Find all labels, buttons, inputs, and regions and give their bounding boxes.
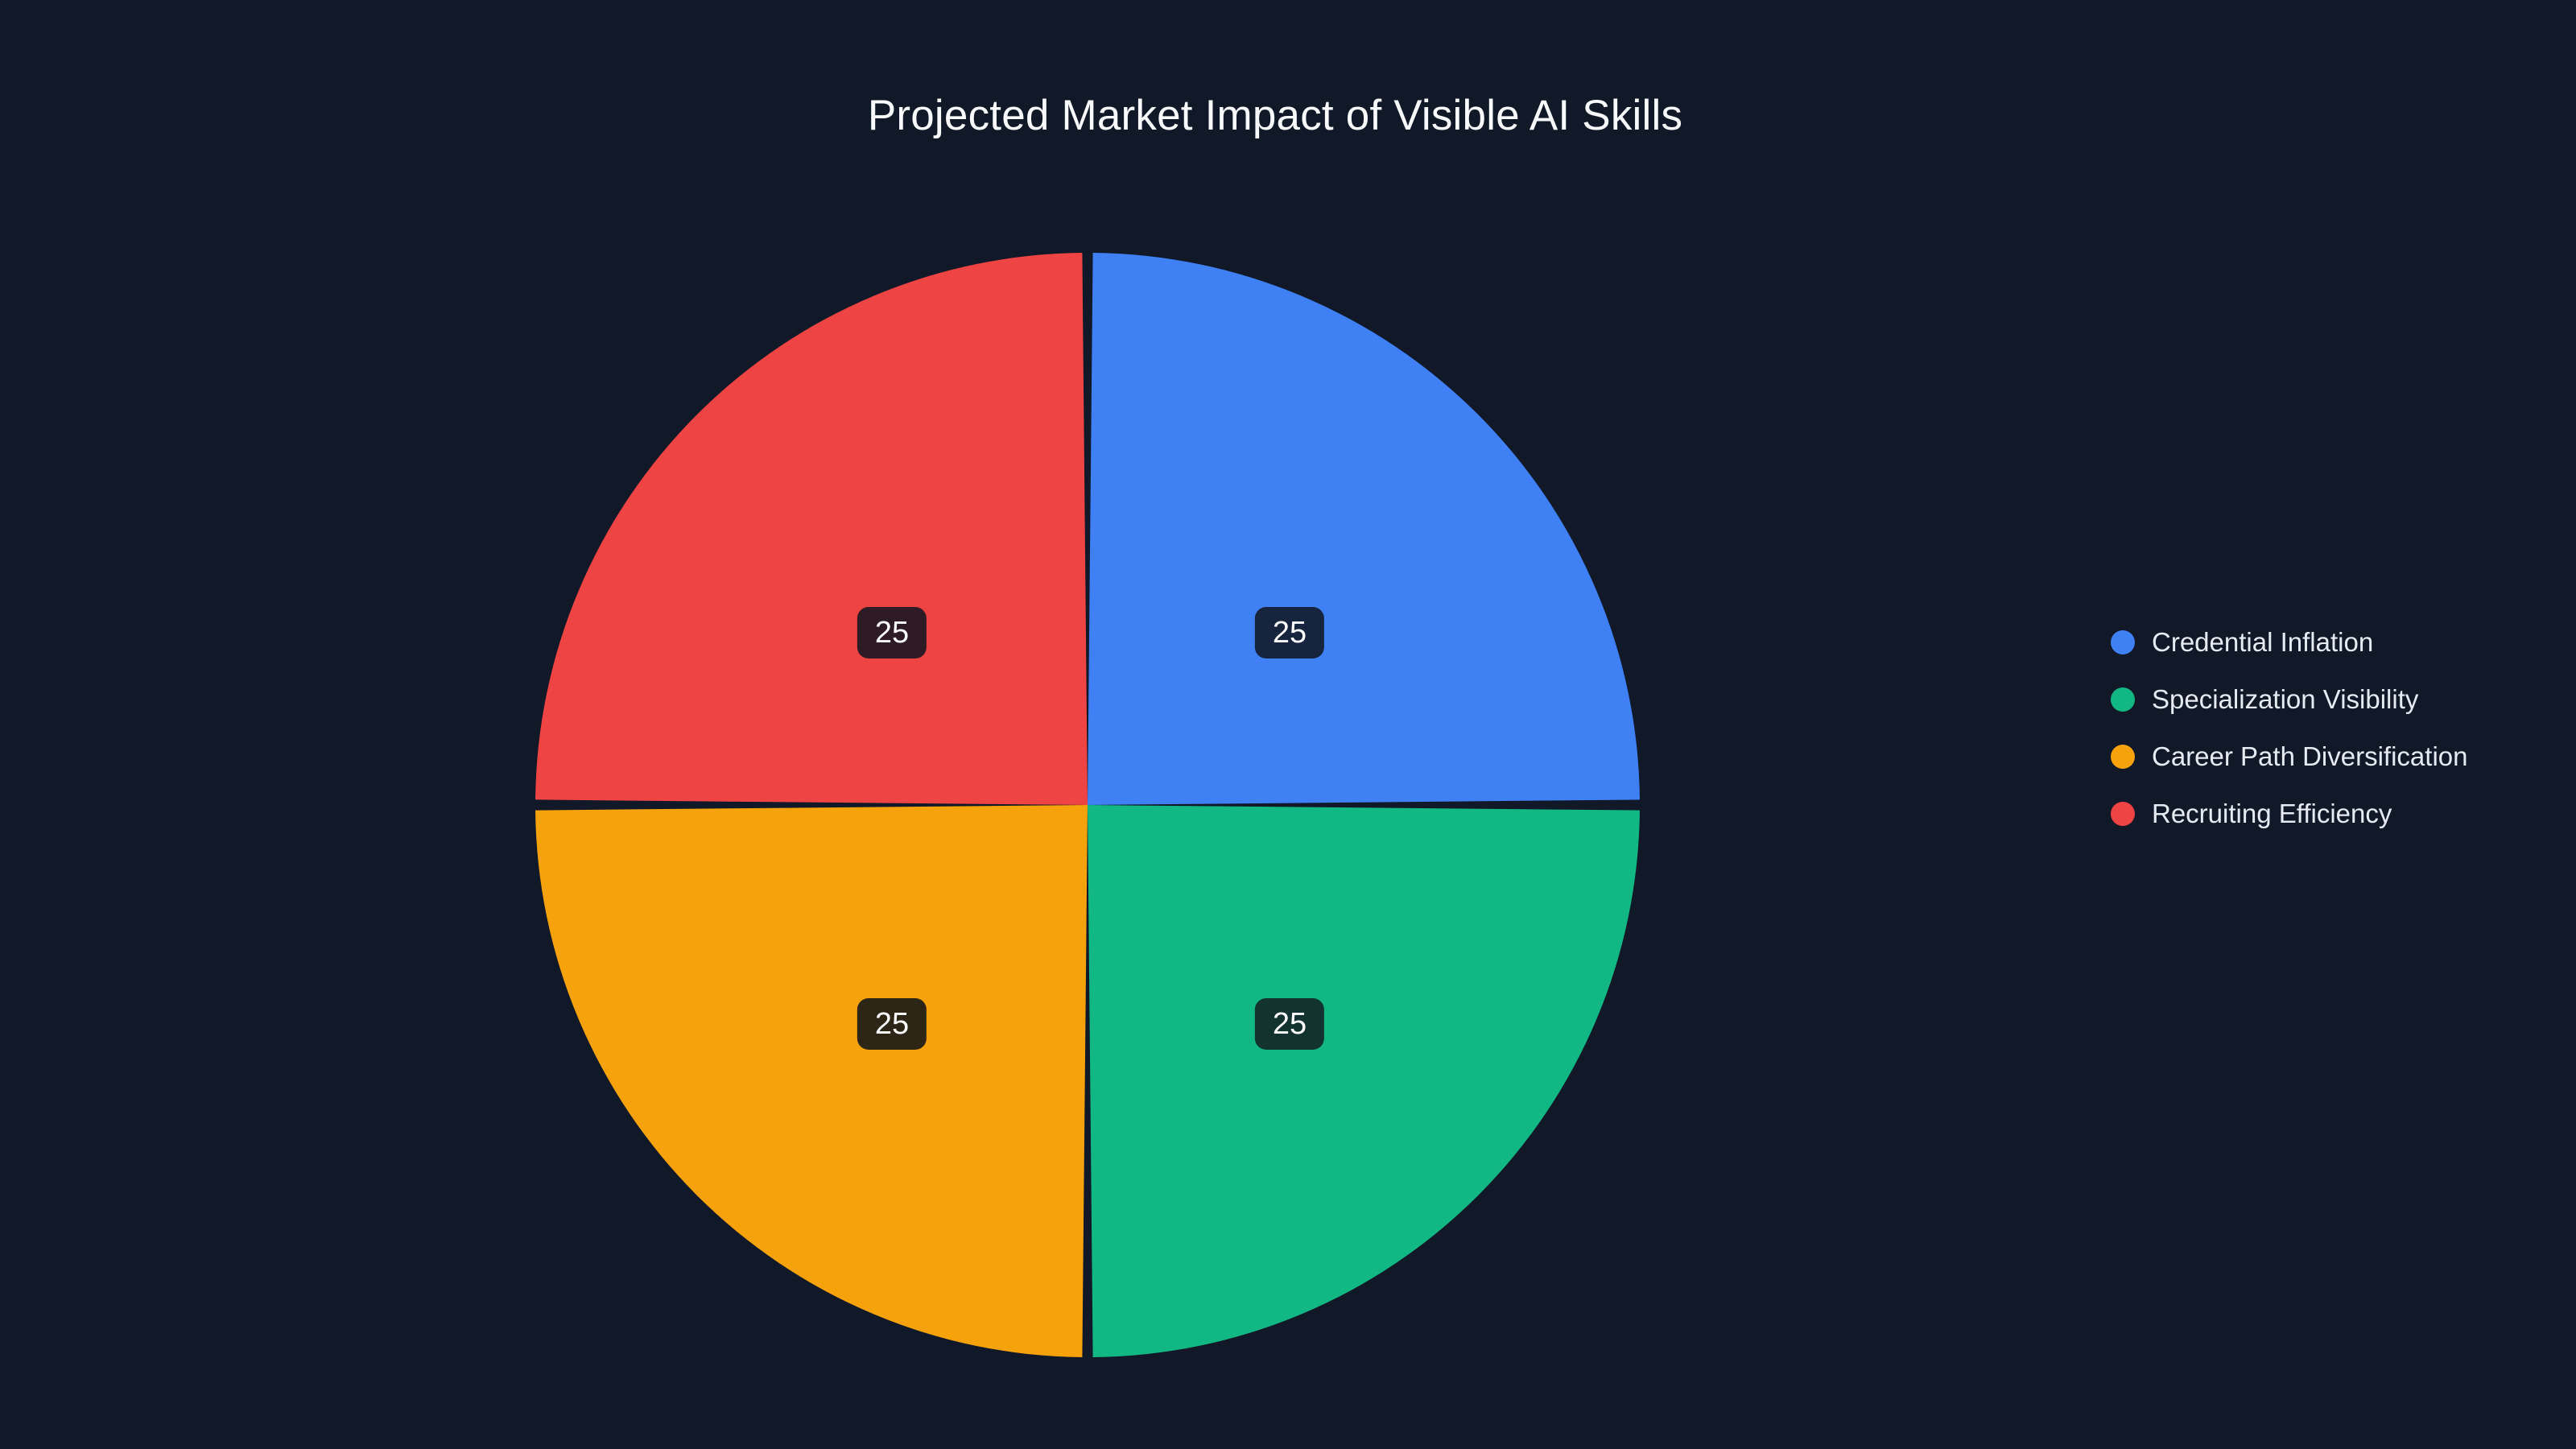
legend-item-label: Career Path Diversification xyxy=(2152,743,2468,770)
slice-value: 25 xyxy=(1273,1007,1307,1041)
legend-swatch-icon xyxy=(2111,630,2135,654)
legend-item-label: Recruiting Efficiency xyxy=(2152,800,2392,827)
slice-data-label-credential-inflation: 25 xyxy=(1255,607,1324,658)
legend-item-career-path-diversification[interactable]: Career Path Diversification xyxy=(2111,728,2468,785)
legend-item-recruiting-efficiency[interactable]: Recruiting Efficiency xyxy=(2111,785,2468,842)
pie-slice-group xyxy=(535,253,1640,1357)
pie-slice[interactable] xyxy=(1088,253,1640,805)
slice-data-label-specialization-visibility: 25 xyxy=(1255,998,1324,1050)
chart-page: Projected Market Impact of Visible AI Sk… xyxy=(0,0,2576,1449)
slice-data-label-recruiting-efficiency: 25 xyxy=(857,607,927,658)
slice-value: 25 xyxy=(875,1007,909,1041)
legend-item-label: Credential Inflation xyxy=(2152,629,2373,655)
pie-slice[interactable] xyxy=(535,805,1088,1357)
pie-slice[interactable] xyxy=(1088,805,1640,1357)
chart-legend: Credential Inflation Specialization Visi… xyxy=(2111,613,2468,842)
pie-chart-svg xyxy=(0,0,2061,1449)
legend-item-specialization-visibility[interactable]: Specialization Visibility xyxy=(2111,671,2468,728)
slice-value: 25 xyxy=(1273,616,1307,650)
slice-value: 25 xyxy=(875,616,909,650)
legend-swatch-icon xyxy=(2111,687,2135,712)
pie-chart-plot-area: 25 25 25 25 xyxy=(0,0,2061,1449)
legend-swatch-icon xyxy=(2111,802,2135,826)
legend-swatch-icon xyxy=(2111,745,2135,769)
slice-data-label-career-path-diversification: 25 xyxy=(857,998,927,1050)
pie-slice[interactable] xyxy=(535,253,1088,805)
legend-item-credential-inflation[interactable]: Credential Inflation xyxy=(2111,613,2468,671)
legend-item-label: Specialization Visibility xyxy=(2152,686,2418,712)
